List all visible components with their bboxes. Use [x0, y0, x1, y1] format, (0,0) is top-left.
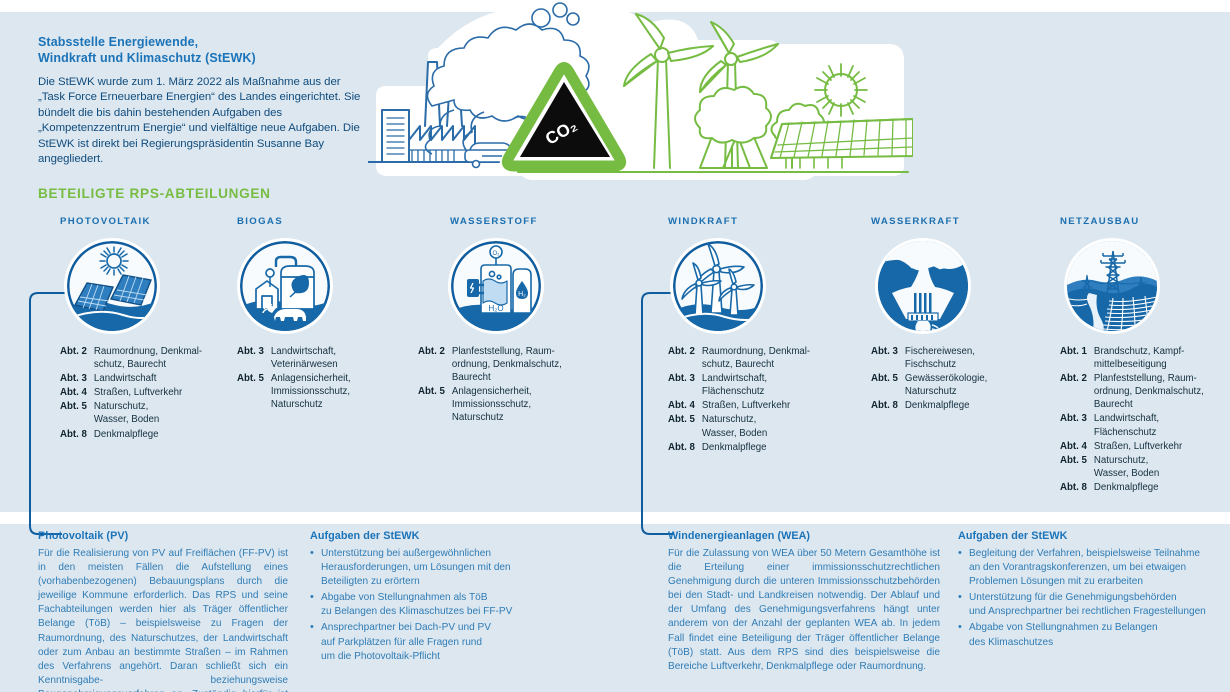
category-title: BIOGAS	[237, 216, 422, 227]
department-row: Abt. 8Denkmalpflege	[60, 428, 202, 442]
task-list: Begleitung der Verfahren, beispielsweise…	[958, 547, 1220, 650]
block-heading: Aufgaben der StEWK	[958, 530, 1220, 542]
category-title: WASSERKRAFT	[871, 216, 1046, 227]
department-row: Abt. 5Anlagensicherheit, Immissionsschut…	[418, 385, 562, 425]
task-item: Abgabe von Stellungnahmen zu Belangen de…	[958, 621, 1220, 649]
sun-icon	[815, 64, 867, 116]
task-item: Begleitung der Verfahren, beispielsweise…	[958, 547, 1220, 589]
department-row: Abt. 8Denkmalpflege	[871, 399, 987, 413]
category-wasserkraft: WASSERKRAFT	[871, 216, 1046, 413]
block-photovoltaik: Photovoltaik (PV) Für die Realisierung v…	[38, 530, 288, 692]
department-list-wasserstoff: Abt. 2Planfeststellung, Raum- ordnung, D…	[418, 345, 562, 426]
block-windenergieanlagen: Windenergieanlagen (WEA) Für die Zulassu…	[668, 530, 940, 674]
department-row: Abt. 5Naturschutz, Wasser, Boden	[668, 413, 810, 440]
block-body: Für die Zulassung von WEA über 50 Metern…	[668, 547, 940, 674]
department-row: Abt. 4Straßen, Luftverkehr	[60, 386, 202, 400]
department-row: Abt. 5Naturschutz, Wasser, Boden	[60, 400, 202, 427]
category-title: PHOTOVOLTAIK	[60, 216, 250, 227]
categories-row: PHOTOVOLTAIK	[0, 216, 1230, 516]
power-grid-icon	[1064, 238, 1160, 334]
department-row: Abt. 5Anlagensicherheit, Immissionsschut…	[237, 372, 351, 412]
hydropower-dam-icon	[875, 238, 971, 334]
svg-text:H₂O: H₂O	[488, 304, 503, 313]
department-list-wasserkraft: Abt. 3Fischereiwesen, Fischschutz Abt. 5…	[871, 345, 987, 413]
page-title: Stabsstelle Energiewende, Windkraft und …	[38, 34, 368, 66]
department-row: Abt. 3Fischereiwesen, Fischschutz	[871, 345, 987, 372]
department-row: Abt. 4Straßen, Luftverkehr	[668, 399, 810, 413]
biogas-plant-icon	[237, 238, 333, 334]
department-row: Abt. 5Naturschutz, Wasser, Boden	[1060, 454, 1204, 481]
task-item: Unterstützung bei außergewöhnlichen Hera…	[310, 547, 570, 589]
hero-illustration: CO₂	[368, 0, 913, 186]
category-biogas: BIOGAS	[237, 216, 422, 412]
section-heading: BETEILIGTE RPS-ABTEILUNGEN	[38, 186, 271, 201]
department-row: Abt. 3Landwirtschaft, Flächenschutz	[668, 372, 810, 399]
intro-paragraph: Die StEWK wurde zum 1. März 2022 als Maß…	[38, 75, 368, 167]
task-list: Unterstützung bei außergewöhnlichen Hera…	[310, 547, 570, 664]
infographic-page: Stabsstelle Energiewende, Windkraft und …	[0, 0, 1230, 692]
panel-right	[111, 275, 151, 305]
category-title: WINDKRAFT	[668, 216, 858, 227]
block-heading: Windenergieanlagen (WEA)	[668, 530, 940, 542]
category-wasserstoff: WASSERSTOFF O₂	[418, 216, 613, 426]
department-row: Abt. 2Planfeststellung, Raum- ordnung, D…	[418, 345, 562, 385]
department-row: Abt. 1Brandschutz, Kampf- mittelbeseitig…	[1060, 345, 1204, 372]
department-row: Abt. 2Raumordnung, Denkmal- schutz, Baur…	[60, 345, 202, 372]
wind-turbine-icon	[670, 238, 766, 334]
block-heading: Aufgaben der StEWK	[310, 530, 570, 542]
task-item: Abgabe von Stellungnahmen als TöB zu Bel…	[310, 591, 570, 619]
category-title: WASSERSTOFF	[450, 216, 613, 227]
svg-text:O₂: O₂	[493, 251, 501, 257]
department-row: Abt. 8Denkmalpflege	[1060, 481, 1204, 495]
category-windkraft: WINDKRAFT	[668, 216, 858, 455]
block-photovoltaik-tasks: Aufgaben der StEWK Unterstützung bei auß…	[310, 530, 570, 666]
hydrogen-electrolysis-icon: O₂ H₂ H₂O	[448, 238, 544, 334]
block-windenergieanlagen-tasks: Aufgaben der StEWK Begleitung der Verfah…	[958, 530, 1220, 652]
task-item: Unterstützung für die Genehmigungsbehörd…	[958, 591, 1220, 619]
department-list-biogas: Abt. 3Landwirtschaft, Veterinärwesen Abt…	[237, 345, 351, 412]
department-row: Abt. 4Straßen, Luftverkehr	[1060, 440, 1204, 454]
intro-block: Stabsstelle Energiewende, Windkraft und …	[38, 34, 368, 167]
department-list-photovoltaik: Abt. 2Raumordnung, Denkmal- schutz, Baur…	[60, 345, 202, 442]
category-netzausbau: NETZAUSBAU	[1060, 216, 1230, 495]
task-item: Ansprechpartner bei Dach-PV und PV auf P…	[310, 621, 570, 663]
department-row: Abt. 3Landwirtschaft	[60, 372, 202, 386]
block-heading: Photovoltaik (PV)	[38, 530, 288, 542]
solar-panel-icon	[64, 238, 160, 334]
department-row: Abt. 8Denkmalpflege	[668, 441, 810, 455]
category-photovoltaik: PHOTOVOLTAIK	[60, 216, 250, 442]
department-row: Abt. 5Gewässerökologie, Naturschutz	[871, 372, 987, 399]
category-title: NETZAUSBAU	[1060, 216, 1230, 227]
block-body: Für die Realisierung von PV auf Freifläc…	[38, 547, 288, 692]
svg-text:H₂: H₂	[518, 291, 526, 298]
department-row: Abt. 3Landwirtschaft, Flächenschutz	[1060, 412, 1204, 439]
department-row: Abt. 2Planfeststellung, Raum- ordnung, D…	[1060, 372, 1204, 412]
department-list-windkraft: Abt. 2Raumordnung, Denkmal- schutz, Baur…	[668, 345, 810, 455]
department-row: Abt. 3Landwirtschaft, Veterinärwesen	[237, 345, 351, 372]
department-list-netzausbau: Abt. 1Brandschutz, Kampf- mittelbeseitig…	[1060, 345, 1204, 495]
department-row: Abt. 2Raumordnung, Denkmal- schutz, Baur…	[668, 345, 810, 372]
